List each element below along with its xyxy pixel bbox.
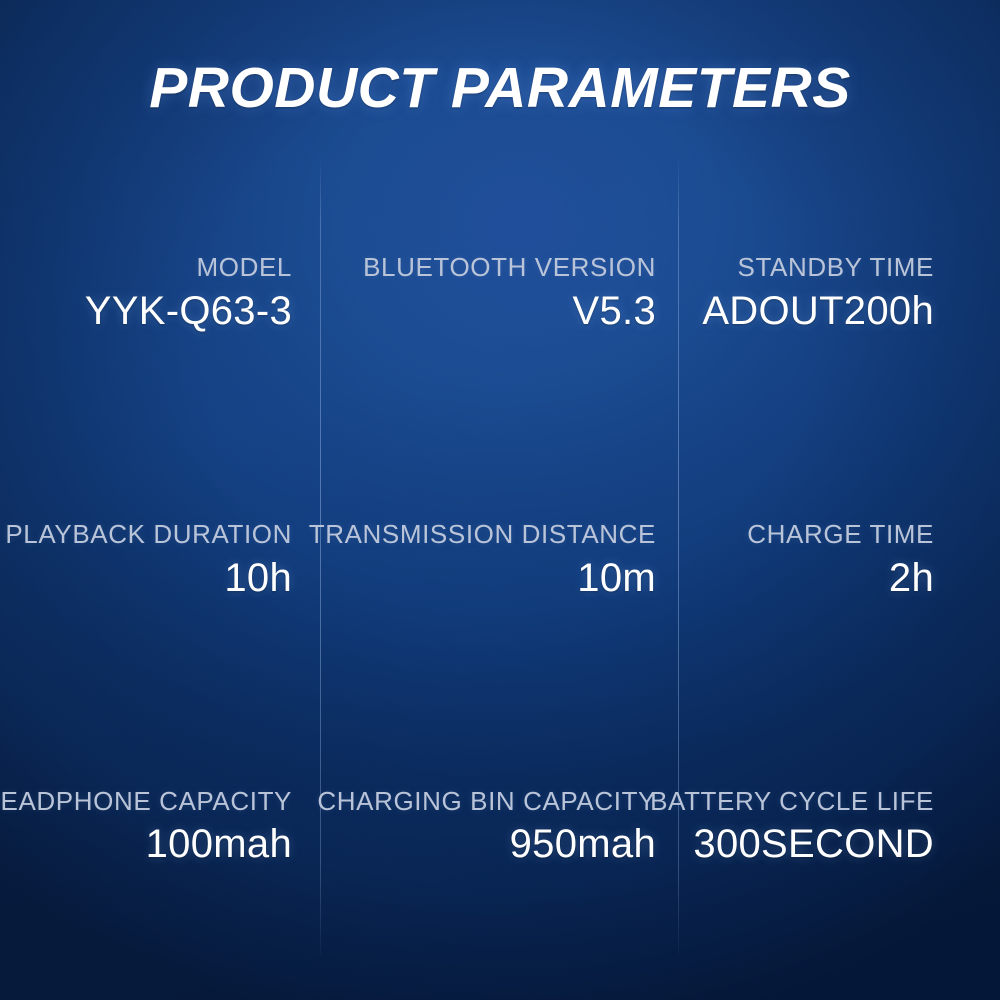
spec-grid: MODEL YYK-Q63-3 BLUETOOTH VERSION V5.3 S… (0, 160, 1000, 960)
spec-label: PLAYBACK DURATION (5, 519, 292, 550)
spec-label: TRANSMISSION DISTANCE (309, 519, 656, 550)
spec-value: YYK-Q63-3 (85, 289, 292, 335)
spec-value: 100mah (146, 822, 292, 868)
title-container: PRODUCT PARAMETERS (0, 60, 1000, 117)
spec-value: 10h (224, 556, 292, 602)
spec-value: V5.3 (573, 289, 657, 335)
spec-item-charge-time: CHARGE TIME 2h (678, 427, 1000, 694)
spec-label: CHARGING BIN CAPACITY (317, 786, 656, 817)
spec-value: 2h (889, 556, 934, 602)
spec-label: CHARGE TIME (747, 519, 934, 550)
spec-item-battery-cycle-life: BATTERY CYCLE LIFE 300SECOND (678, 693, 1000, 960)
spec-item-model: MODEL YYK-Q63-3 (0, 160, 320, 427)
spec-item-bluetooth-version: BLUETOOTH VERSION V5.3 (320, 160, 678, 427)
spec-label: MODEL (197, 252, 292, 283)
spec-label: BATTERY CYCLE LIFE (650, 786, 934, 817)
spec-value: ADOUT200h (702, 289, 934, 335)
spec-item-transmission-distance: TRANSMISSION DISTANCE 10m (320, 427, 678, 694)
page-title: PRODUCT PARAMETERS (149, 60, 850, 117)
spec-item-playback-duration: PLAYBACK DURATION 10h (0, 427, 320, 694)
spec-label: BLUETOOTH VERSION (363, 252, 656, 283)
spec-label: STANDBY TIME (738, 252, 934, 283)
spec-item-charging-bin-capacity: CHARGING BIN CAPACITY 950mah (320, 693, 678, 960)
spec-value: 300SECOND (693, 822, 934, 868)
spec-value: 950mah (510, 822, 656, 868)
spec-item-standby-time: STANDBY TIME ADOUT200h (678, 160, 1000, 427)
spec-item-headphone-capacity: HEADPHONE CAPACITY 100mah (0, 693, 320, 960)
product-parameters-sheet: PRODUCT PARAMETERS MODEL YYK-Q63-3 BLUET… (0, 0, 1000, 1000)
spec-value: 10m (577, 556, 656, 602)
spec-label: HEADPHONE CAPACITY (0, 786, 292, 817)
